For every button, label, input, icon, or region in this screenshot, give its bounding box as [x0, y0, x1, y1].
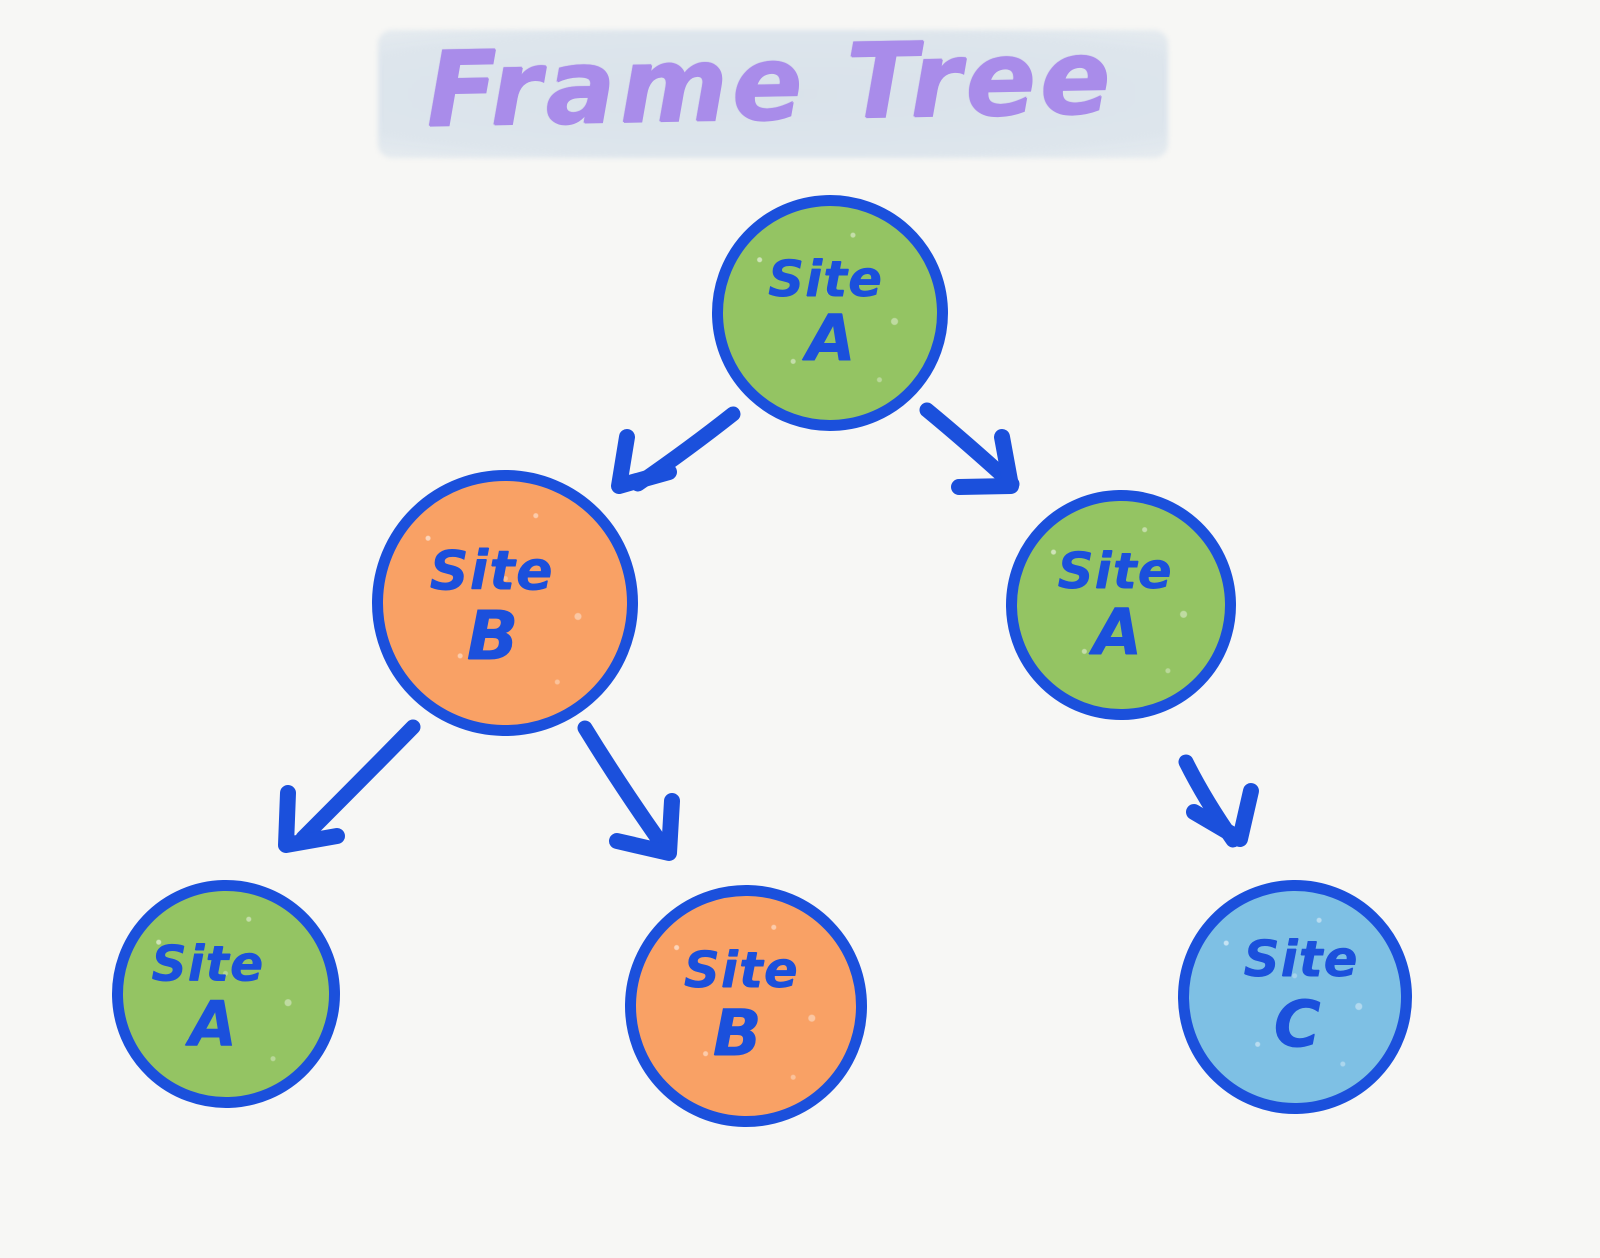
node-label-bottom: B: [466, 604, 519, 671]
node-label-top: Site: [1057, 547, 1172, 596]
edge-root-to-site-a-right: [927, 410, 1012, 487]
page-title-group: Frame Tree: [370, 18, 1170, 163]
node-label-bottom: A: [1092, 602, 1143, 665]
node-label-top: Site: [1243, 935, 1358, 984]
node-site-b[interactable]: Site B: [370, 468, 641, 739]
edge-root-to-site-b: [619, 414, 733, 486]
node-site-b-leaf[interactable]: Site B: [623, 883, 869, 1129]
node-label-top: Site: [683, 946, 798, 995]
node-site-a-right[interactable]: Site A: [1004, 488, 1238, 722]
node-site-c-leaf[interactable]: Site C: [1176, 878, 1414, 1116]
diagram-canvas: Frame Tree: [0, 0, 1600, 1258]
node-site-a-leaf[interactable]: Site A: [109, 877, 343, 1111]
node-label-top: Site: [767, 255, 882, 304]
node-label-top: Site: [151, 940, 264, 988]
node-label-bottom: A: [806, 308, 857, 371]
node-label-bottom: C: [1274, 994, 1322, 1057]
node-label-bottom: B: [713, 1003, 763, 1066]
node-label-bottom: A: [188, 994, 237, 1055]
edge-site-b-to-site-a-leaf: [286, 727, 413, 845]
edge-site-b-to-site-b-leaf: [585, 728, 672, 853]
node-root-site-a[interactable]: Site A: [708, 191, 952, 435]
edge-site-a-right-to-site-c: [1186, 762, 1251, 840]
node-label-top: Site: [430, 545, 554, 598]
page-title: Frame Tree: [369, 14, 1171, 151]
